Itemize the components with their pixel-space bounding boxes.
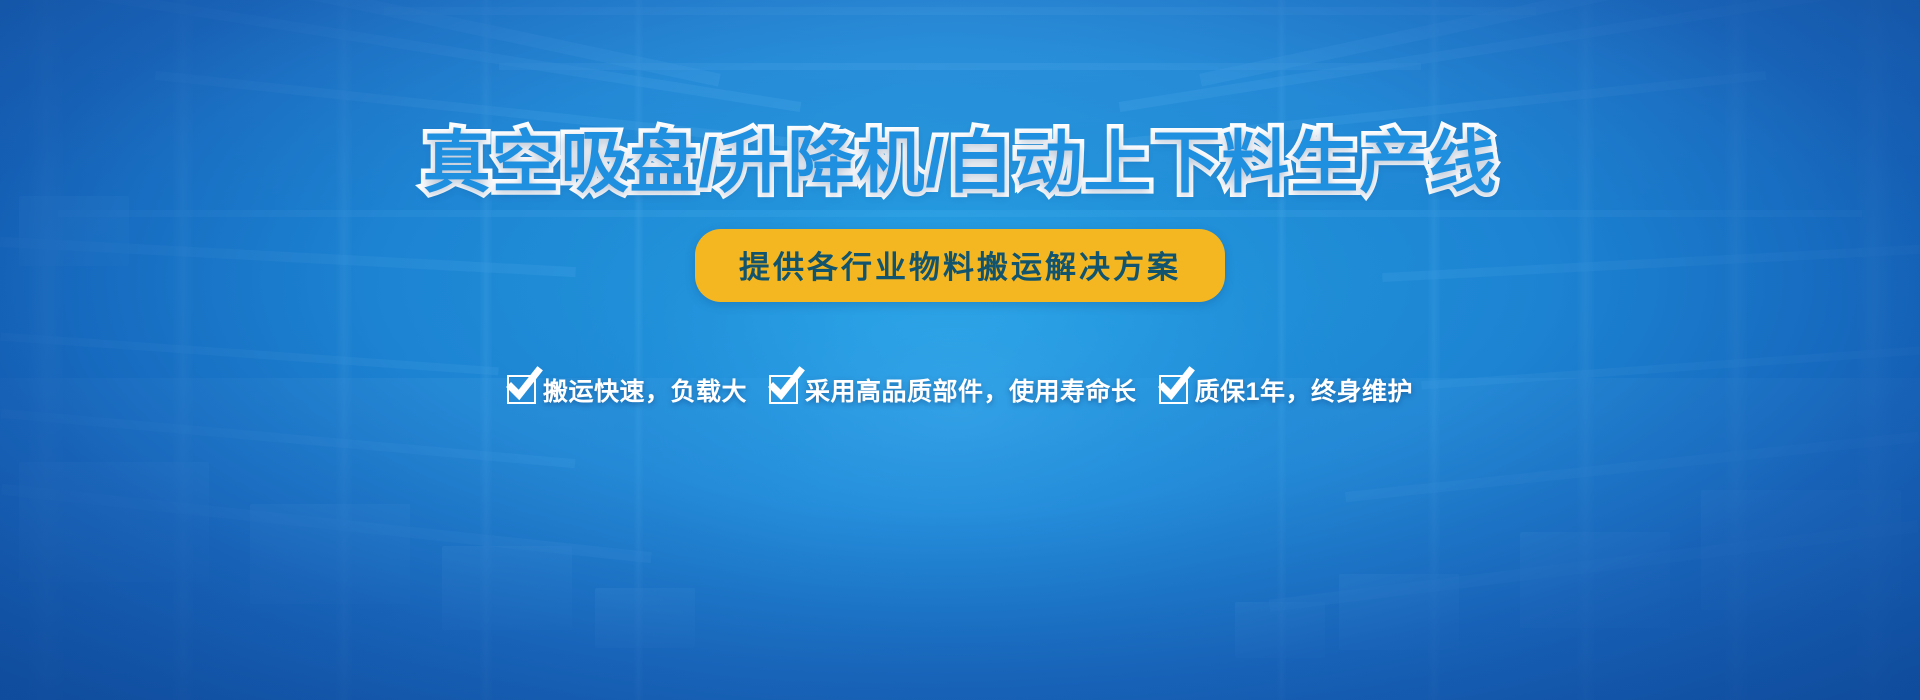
check-icon [1159, 375, 1188, 404]
check-icon [769, 375, 798, 404]
feature-label: 质保1年，终身维护 [1195, 372, 1413, 408]
hero-banner: 真空吸盘/升降机/自动上下料生产线 提供各行业物料搬运解决方案 搬运快速，负载大… [0, 0, 1920, 700]
feature-label: 搬运快速，负载大 [543, 372, 747, 408]
feature-item: 质保1年，终身维护 [1159, 372, 1413, 408]
feature-item: 搬运快速，负载大 [507, 372, 747, 408]
feature-label: 采用高品质部件，使用寿命长 [805, 372, 1137, 408]
banner-content: 真空吸盘/升降机/自动上下料生产线 提供各行业物料搬运解决方案 搬运快速，负载大… [0, 0, 1920, 700]
feature-item: 采用高品质部件，使用寿命长 [769, 372, 1137, 408]
banner-headline: 真空吸盘/升降机/自动上下料生产线 [423, 126, 1498, 201]
feature-list: 搬运快速，负载大 采用高品质部件，使用寿命长 质保1年，终身维护 [507, 372, 1413, 408]
banner-subtitle-badge: 提供各行业物料搬运解决方案 [695, 229, 1225, 302]
check-icon [507, 375, 536, 404]
